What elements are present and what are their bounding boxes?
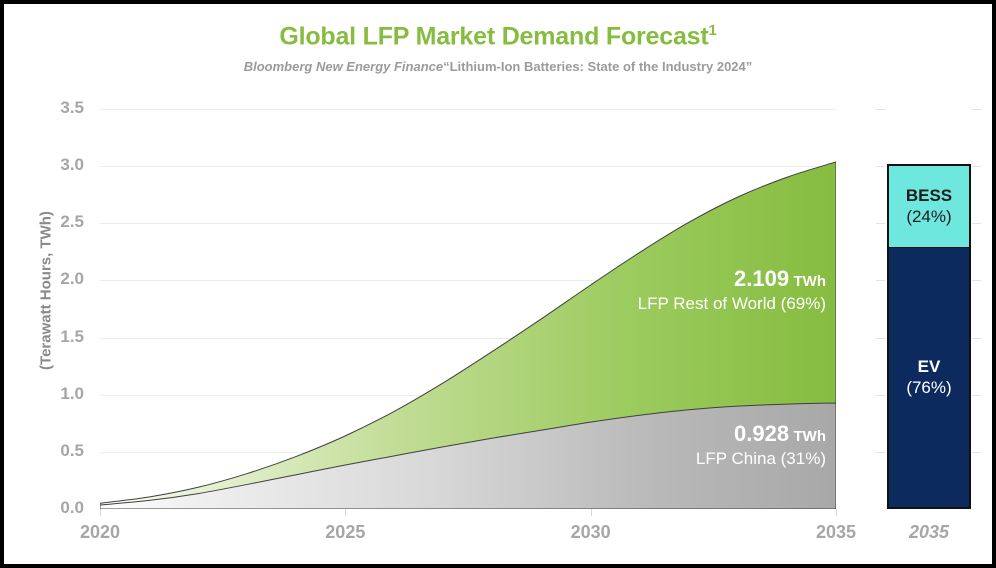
y-tick-label: 1.5 xyxy=(36,327,84,347)
side-bar-gridmark xyxy=(876,109,885,110)
y-tick-label: 0.5 xyxy=(36,441,84,461)
ev-label: EV xyxy=(918,357,941,377)
side-bar-gridmark xyxy=(972,280,981,281)
x-tick-label: 2025 xyxy=(305,522,385,543)
y-tick-label: 0.0 xyxy=(36,498,84,518)
side-bar-gridmark xyxy=(876,452,885,453)
chart-subtitle-source: Bloomberg New Energy Finance xyxy=(244,59,443,74)
x-tick-label: 2030 xyxy=(551,522,631,543)
chart-title-text: Global LFP Market Demand Forecast xyxy=(279,22,708,50)
side-bar-gridmark xyxy=(876,338,885,339)
china-value: 0.928 xyxy=(734,421,789,446)
rest-of-world-value: 2.109 xyxy=(734,266,789,291)
x-tick-label: 2020 xyxy=(60,522,140,543)
x-tick-mark xyxy=(836,509,837,516)
x-tick-label: 2035 xyxy=(796,522,876,543)
x-tick-mark xyxy=(345,509,346,516)
side-bar-gridmark xyxy=(972,109,981,110)
y-axis-title: (Terawatt Hours, TWh) xyxy=(38,81,55,501)
chart-subtitle-quote: “Lithium-Ion Batteries: State of the Ind… xyxy=(443,59,752,74)
side-bar-gridmark xyxy=(972,452,981,453)
side-bar-gridmark xyxy=(876,395,885,396)
series-label-china: 0.928 TWh LFP China (31%) xyxy=(696,422,826,468)
x-tick-mark xyxy=(591,509,592,516)
ev-share: (76%) xyxy=(906,378,951,398)
china-unit: TWh xyxy=(794,428,826,445)
bar-segment-ev: EV (76%) xyxy=(889,248,969,507)
chart-subtitle: Bloomberg New Energy Finance“Lithium-Ion… xyxy=(4,59,992,74)
bess-label: BESS xyxy=(906,186,952,206)
bar-segment-bess: BESS (24%) xyxy=(889,166,969,248)
y-tick-label: 3.5 xyxy=(36,98,84,118)
side-bar-gridmark xyxy=(972,166,981,167)
y-tick-label: 2.5 xyxy=(36,212,84,232)
side-bar-gridmark xyxy=(972,395,981,396)
plot-area: 2.109 TWh LFP Rest of World (69%) 0.928 … xyxy=(100,109,836,509)
side-bar-gridmark xyxy=(972,338,981,339)
side-bar-gridmark xyxy=(876,280,885,281)
y-tick-label: 3.0 xyxy=(36,155,84,175)
chart-title-superscript: 1 xyxy=(709,22,717,39)
side-bar-gridmark xyxy=(876,223,885,224)
side-bar-x-label: 2035 xyxy=(887,522,971,543)
china-name: LFP China (31%) xyxy=(696,449,826,468)
chart-title: Global LFP Market Demand Forecast1 xyxy=(4,22,992,51)
y-tick-label: 2.0 xyxy=(36,269,84,289)
side-bar-gridmark xyxy=(876,166,885,167)
side-stacked-bar: BESS (24%) EV (76%) xyxy=(887,164,971,509)
rest-of-world-name: LFP Rest of World (69%) xyxy=(638,294,826,313)
chart-frame: Global LFP Market Demand Forecast1 Bloom… xyxy=(0,0,996,568)
bess-share: (24%) xyxy=(906,207,951,227)
series-label-rest-of-world: 2.109 TWh LFP Rest of World (69%) xyxy=(638,267,826,313)
x-tick-mark xyxy=(100,509,101,516)
rest-of-world-unit: TWh xyxy=(794,273,826,290)
y-tick-label: 1.0 xyxy=(36,384,84,404)
side-bar-gridmark xyxy=(972,223,981,224)
